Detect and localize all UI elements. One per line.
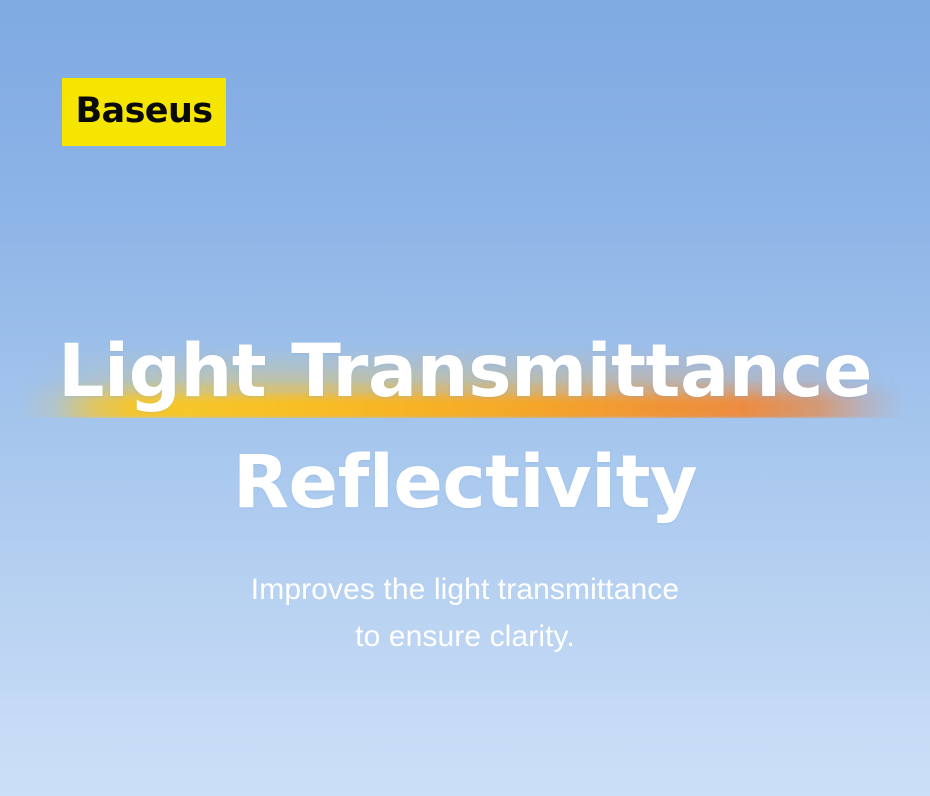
headline-line-1: Light Transmittance	[0, 316, 930, 428]
headline-block: Light Transmittance Reflectivity	[0, 316, 930, 539]
subtitle-block: Improves the light transmittance to ensu…	[0, 566, 930, 660]
subtitle-line-2: to ensure clarity.	[0, 613, 930, 660]
headline-line-2: Reflectivity	[0, 427, 930, 539]
brand-logo-wordmark: Baseus	[75, 94, 212, 129]
subtitle-line-1: Improves the light transmittance	[0, 566, 930, 613]
promo-banner: Baseus Light Transmittance Reflectivity …	[0, 0, 930, 796]
brand-logo-badge: Baseus	[62, 78, 226, 146]
